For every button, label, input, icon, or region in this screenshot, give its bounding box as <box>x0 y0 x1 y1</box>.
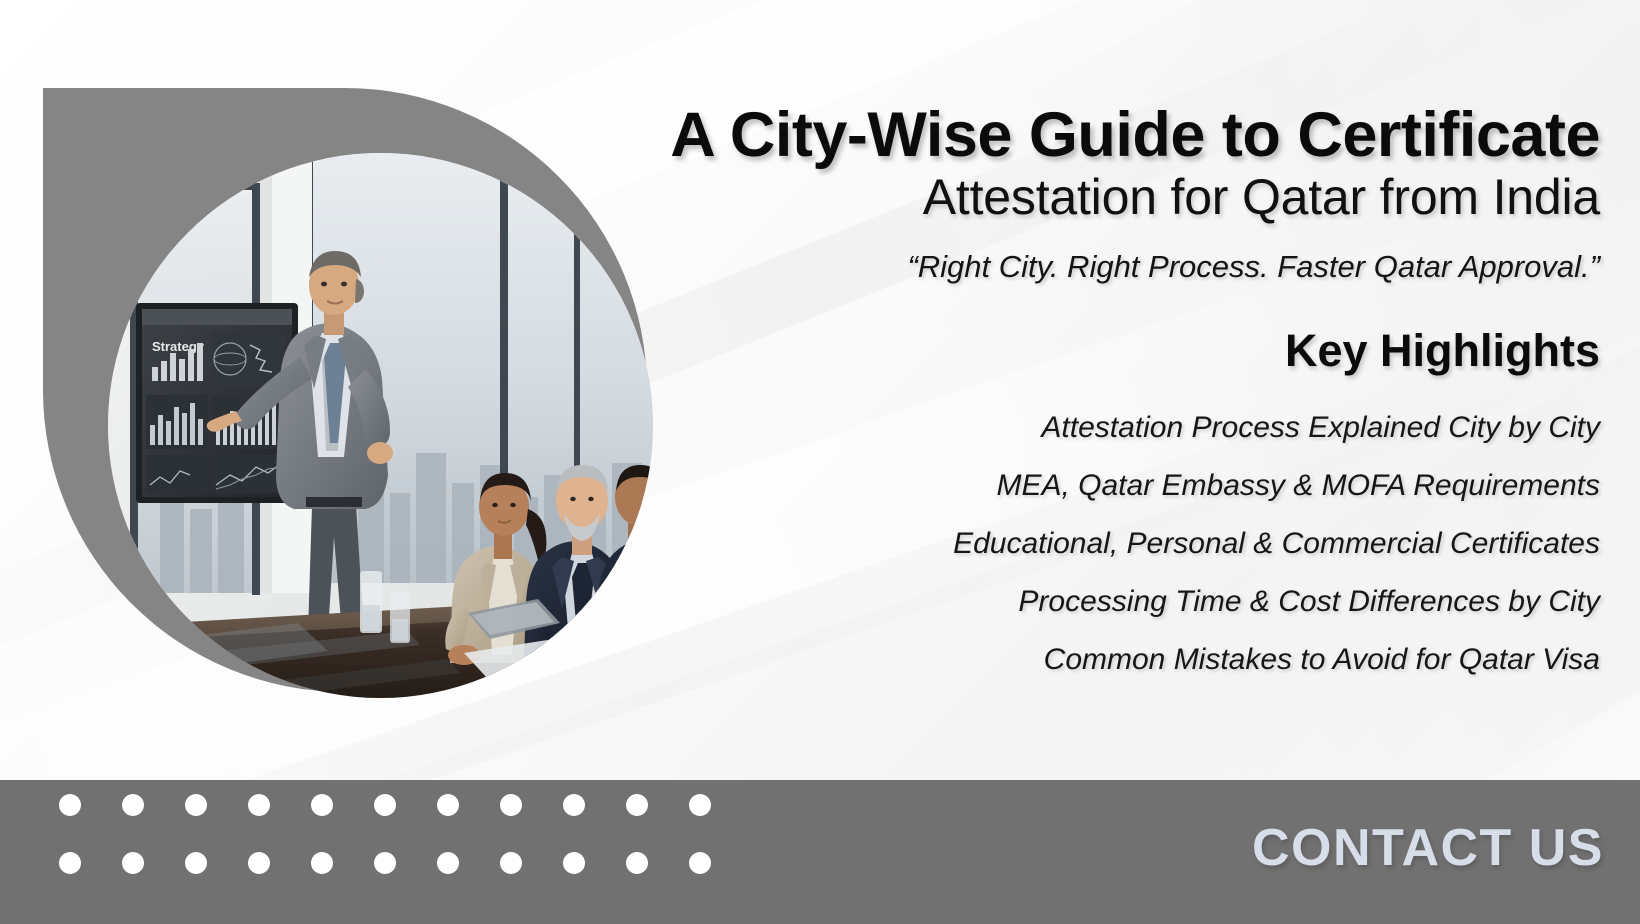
dot <box>374 852 396 874</box>
tagline: “Right City. Right Process. Faster Qatar… <box>620 250 1600 284</box>
business-presentation-photo: Strategy <box>108 153 653 698</box>
dot <box>311 794 333 816</box>
dot <box>563 852 585 874</box>
dot <box>374 794 396 816</box>
key-highlights-list: Attestation Process Explained City by Ci… <box>620 399 1600 688</box>
dot-pattern-decoration <box>59 794 717 874</box>
dot <box>689 852 711 874</box>
list-item: Common Mistakes to Avoid for Qatar Visa <box>620 631 1600 689</box>
dot <box>185 852 207 874</box>
dot <box>122 794 144 816</box>
dot <box>59 852 81 874</box>
dot <box>311 852 333 874</box>
dot <box>500 794 522 816</box>
contact-us-button[interactable]: CONTACT US <box>1252 818 1604 878</box>
dot <box>626 852 648 874</box>
list-item: Attestation Process Explained City by Ci… <box>620 399 1600 457</box>
dot <box>248 794 270 816</box>
list-item: MEA, Qatar Embassy & MOFA Requirements <box>620 457 1600 515</box>
dot <box>437 794 459 816</box>
footer-bar: CONTACT US <box>0 780 1640 924</box>
list-item: Educational, Personal & Commercial Certi… <box>620 515 1600 573</box>
dot <box>122 852 144 874</box>
dot <box>248 852 270 874</box>
dot <box>59 794 81 816</box>
page-title-line-1: A City-Wise Guide to Certificate <box>620 104 1600 167</box>
dot <box>437 852 459 874</box>
dot <box>626 794 648 816</box>
headline-block: A City-Wise Guide to Certificate Attesta… <box>620 104 1600 689</box>
svg-text:Strategy: Strategy <box>152 339 205 354</box>
key-highlights-heading: Key Highlights <box>620 328 1600 373</box>
media-block: Strategy <box>43 88 647 692</box>
dot <box>563 794 585 816</box>
dot <box>185 794 207 816</box>
list-item: Processing Time & Cost Differences by Ci… <box>620 573 1600 631</box>
page-title-line-2: Attestation for Qatar from India <box>620 167 1600 228</box>
dot <box>689 794 711 816</box>
banner-canvas: Strategy <box>0 0 1640 924</box>
dot <box>500 852 522 874</box>
